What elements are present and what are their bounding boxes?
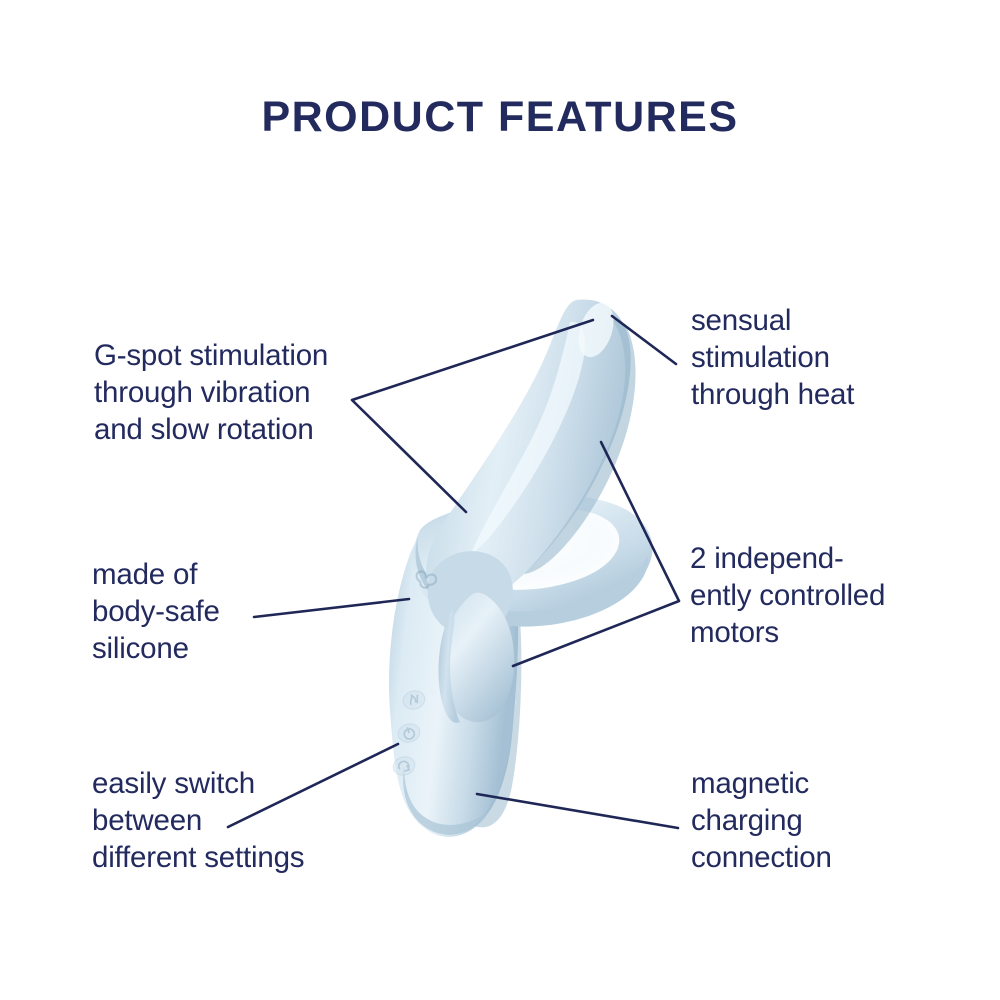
leader-g-spot (352, 320, 593, 512)
leader-switch (228, 744, 398, 827)
leader-motors (513, 442, 679, 666)
leader-heat (612, 316, 676, 364)
leader-magnetic (477, 794, 678, 828)
product-features-infographic: PRODUCT FEATURES G-spot stimulation thro… (0, 0, 1000, 1000)
leader-silicone (254, 599, 409, 617)
leader-lines (0, 0, 1000, 1000)
